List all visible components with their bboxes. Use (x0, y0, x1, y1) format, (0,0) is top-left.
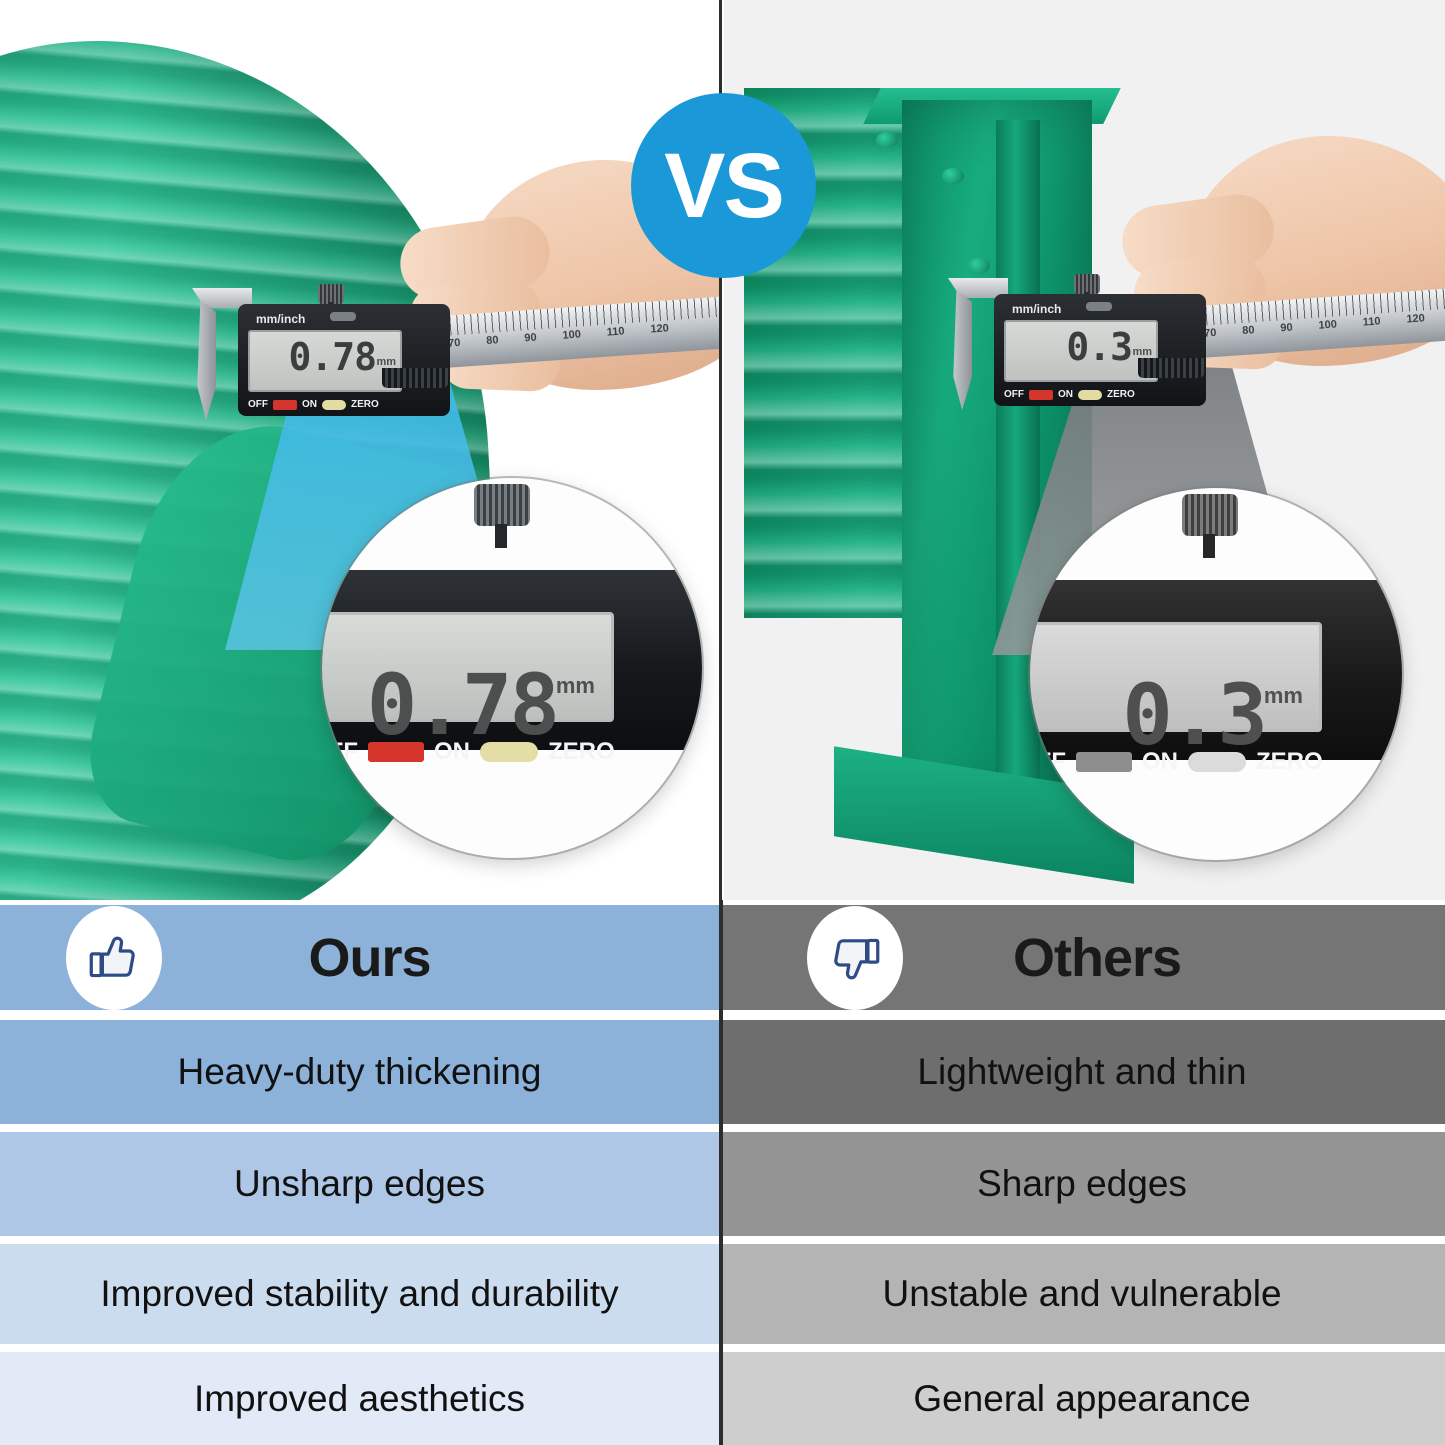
magnified-zero-label: ZERO (1256, 748, 1323, 776)
bed-bolt (942, 168, 964, 184)
caliper-power-switch (273, 400, 297, 410)
ruler-tick-label: 80 (486, 334, 499, 347)
ruler-tick-label: 120 (650, 322, 669, 335)
others-feature-text: General appearance (913, 1378, 1250, 1420)
ours-feature-cell: Improved aesthetics (0, 1352, 719, 1445)
caliper-lcd-screen: 0.78 mm (248, 330, 402, 392)
bed-bolt (968, 258, 990, 274)
right-magnified-caliper: mm/inch 0.3 mm OFF ON ZERO (1030, 488, 1402, 860)
bed-bolt (876, 132, 898, 148)
magnified-controls: OFF ON ZERO (1030, 748, 1323, 776)
magnified-unit: mm (556, 673, 595, 699)
magnified-on-label: ON (1142, 748, 1178, 776)
caliper-on-label: ON (1058, 389, 1073, 400)
caliper-zero-button (1078, 390, 1102, 400)
others-feature-text: Lightweight and thin (917, 1051, 1246, 1093)
magnified-zero-button (1188, 752, 1246, 772)
caliper-body: mm/inch 0.3 mm OFF ON ZERO (994, 294, 1206, 406)
caliper-unit: mm (376, 356, 396, 368)
caliper-on-label: ON (302, 399, 317, 410)
ruler-tick-label: 80 (1242, 324, 1255, 337)
comparison-infographic: 70 80 90 100 110 120 mm/inch 0.78 mm (0, 0, 1445, 1445)
ruler-tick-label: 110 (1362, 315, 1381, 328)
caliper-body: mm/inch 0.78 mm OFF ON ZERO (238, 304, 450, 416)
magnified-power-switch (368, 742, 424, 762)
caliper-unit: mm (1132, 346, 1152, 358)
table-column-divider (719, 900, 723, 1445)
ruler-tick-label: 100 (562, 328, 581, 341)
ruler-tick-label: 120 (1406, 312, 1425, 325)
magnified-off-label: OFF (1030, 748, 1066, 776)
caliper-lcd-screen: 0.3 mm (1004, 320, 1158, 382)
magnified-lcd-screen: 0.3 mm (1030, 622, 1322, 732)
caliper-zero-button (322, 400, 346, 410)
caliper-mode-button (330, 312, 356, 321)
magnified-reading: 0.3 (1122, 673, 1265, 757)
caliper-thumbwheel (1074, 274, 1100, 294)
vs-badge: VS (631, 93, 816, 278)
magnified-thumbwheel (474, 484, 530, 526)
ruler-tick-label: 100 (1318, 318, 1337, 331)
caliper-reading: 0.78 (288, 338, 376, 376)
ours-feature-cell: Improved stability and durability (0, 1244, 719, 1344)
ruler-tick-label: 90 (1280, 322, 1293, 335)
others-feature-text: Sharp edges (977, 1163, 1187, 1205)
caliper-grip (1138, 358, 1204, 378)
ruler-tick-label: 90 (524, 332, 537, 345)
ours-feature-cell: Unsharp edges (0, 1132, 719, 1236)
caliper-thumbwheel (318, 284, 344, 304)
magnified-zero-label: ZERO (548, 738, 615, 766)
caliper-off-label: OFF (1004, 389, 1024, 400)
caliper-controls: OFF ON ZERO (248, 399, 379, 410)
thumbs-up-icon (66, 906, 162, 1010)
magnified-zero-button (480, 742, 538, 762)
magnified-power-switch (1076, 752, 1132, 772)
others-feature-text: Unstable and vulnerable (882, 1273, 1281, 1315)
caliper-mode-button (1086, 302, 1112, 311)
left-product-photo: 70 80 90 100 110 120 mm/inch 0.78 mm (0, 0, 721, 900)
caliper-mode-label: mm/inch (1012, 302, 1061, 316)
caliper-jaw-blade (190, 300, 216, 420)
magnified-caliper-body: mm/inch 0.3 mm OFF ON ZERO (1030, 580, 1402, 760)
ours-feature-cell: Heavy-duty thickening (0, 1020, 719, 1124)
ours-feature-text: Unsharp edges (234, 1163, 485, 1205)
feature-comparison-table: Ours Others Heavy-duty thickeningLightwe… (0, 900, 1445, 1445)
caliper-power-switch (1029, 390, 1053, 400)
caliper-controls: OFF ON ZERO (1004, 389, 1135, 400)
ruler-tick-label: 110 (606, 325, 625, 338)
magnified-controls: OFF ON ZERO (322, 738, 615, 766)
left-magnified-caliper: mm/inch 0.78 mm OFF ON ZERO (322, 478, 702, 858)
ours-feature-text: Heavy-duty thickening (177, 1051, 541, 1093)
magnified-thumbwheel-stem (1203, 534, 1215, 558)
caliper-mode-label: mm/inch (256, 312, 305, 326)
magnified-thumbwheel-stem (495, 524, 507, 548)
ours-feature-text: Improved aesthetics (194, 1378, 525, 1420)
magnified-unit: mm (1264, 683, 1303, 709)
caliper-off-label: OFF (248, 399, 268, 410)
magnified-view: mm/inch 0.78 mm OFF ON ZERO (322, 478, 702, 858)
magnified-on-label: ON (434, 738, 470, 766)
others-feature-cell: Sharp edges (719, 1132, 1445, 1236)
others-title: Others (1013, 927, 1181, 989)
caliper-jaw-blade (946, 290, 972, 410)
magnified-reading: 0.78 (367, 663, 557, 747)
ours-title: Ours (308, 927, 430, 989)
others-feature-cell: General appearance (719, 1352, 1445, 1445)
others-feature-cell: Unstable and vulnerable (719, 1244, 1445, 1344)
ours-feature-text: Improved stability and durability (100, 1273, 618, 1315)
others-feature-cell: Lightweight and thin (719, 1020, 1445, 1124)
caliper-zero-label: ZERO (351, 399, 379, 410)
magnified-off-label: OFF (322, 738, 358, 766)
photo-comparison-area: 70 80 90 100 110 120 mm/inch 0.78 mm (0, 0, 1445, 900)
magnified-lcd-screen: 0.78 mm (322, 612, 614, 722)
magnified-caliper-body: mm/inch 0.78 mm OFF ON ZERO (322, 570, 702, 750)
magnified-thumbwheel (1182, 494, 1238, 536)
caliper-zero-label: ZERO (1107, 389, 1135, 400)
caliper-grip (382, 368, 448, 388)
thumbs-down-icon (807, 906, 903, 1010)
magnified-view: mm/inch 0.3 mm OFF ON ZERO (1030, 488, 1402, 860)
vs-label: VS (664, 140, 783, 232)
caliper-reading: 0.3 (1066, 328, 1132, 366)
right-product-photo: 70 80 90 100 110 120 mm/inch 0.3 mm (724, 0, 1445, 900)
